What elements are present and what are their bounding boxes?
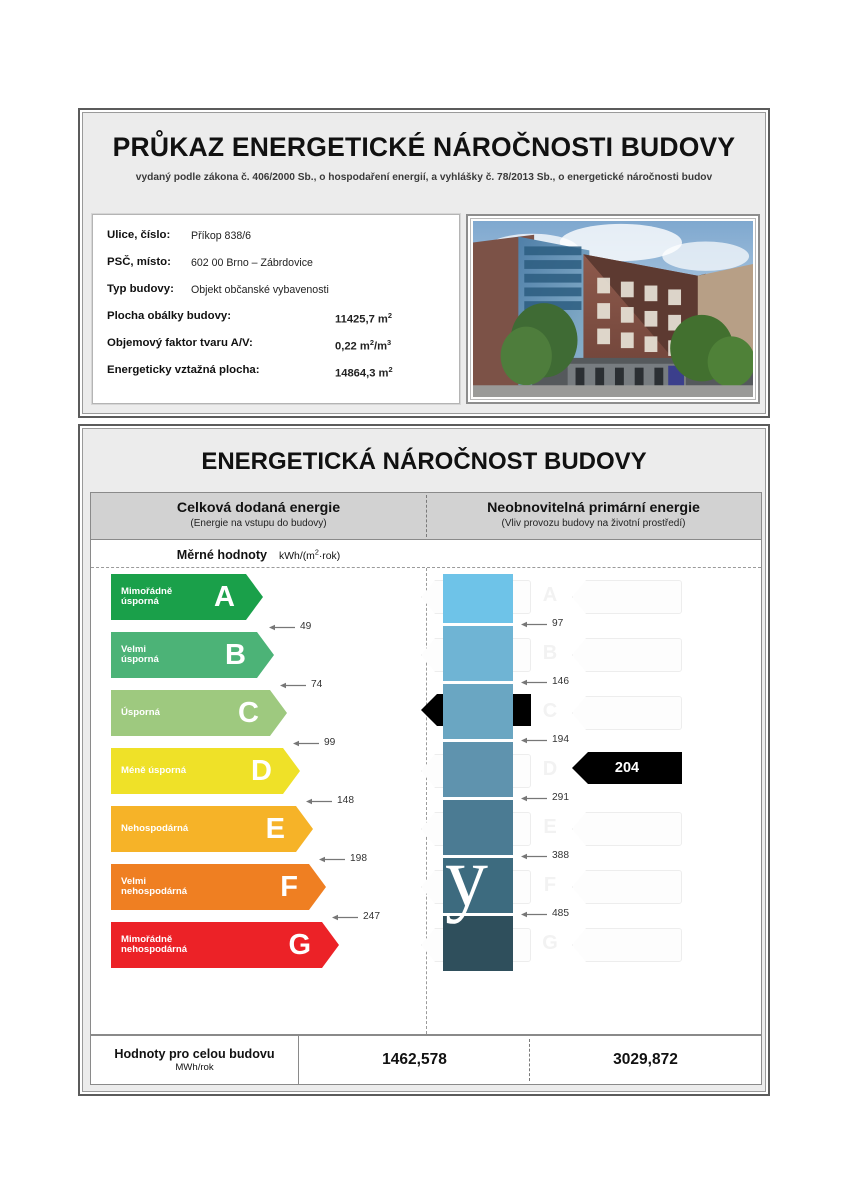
boundary-value: 247 bbox=[363, 911, 380, 922]
building-photo bbox=[473, 221, 753, 397]
class-boundary-c: 99 bbox=[293, 737, 335, 748]
class-name-label: Velmi nehospodárná bbox=[121, 877, 187, 898]
boundary-arrow-icon bbox=[521, 794, 547, 801]
primary-boundary-5: 388 bbox=[521, 850, 569, 861]
boundary-value: 49 bbox=[300, 621, 311, 632]
boundary-value: 485 bbox=[552, 908, 569, 919]
primary-boundary-6: 485 bbox=[521, 908, 569, 919]
class-letter: C bbox=[238, 699, 259, 728]
class-letter: E bbox=[266, 815, 285, 844]
totals-primary-value: 3029,872 bbox=[530, 1036, 761, 1084]
primary-heading: Neobnovitelná primární energie bbox=[426, 500, 761, 516]
identity-row: Typ budovy:Objekt občanské vybavenosti bbox=[107, 283, 457, 307]
primary-placeholder-6 bbox=[572, 870, 682, 904]
primary-energy-value: 204 bbox=[615, 760, 639, 776]
identity-value: 11425,7 m2 bbox=[335, 311, 392, 326]
energy-class-f: Velmi nehospodárnáF bbox=[111, 864, 326, 910]
primary-band-4 bbox=[443, 742, 513, 797]
boundary-value: 388 bbox=[552, 850, 569, 861]
delivered-class-letter-f: F bbox=[539, 874, 561, 897]
delivered-class-letter-c: C bbox=[539, 700, 561, 723]
identity-panel: PRŮKAZ ENERGETICKÉ NÁROČNOSTI BUDOVY vyd… bbox=[78, 108, 770, 418]
section-title: ENERGETICKÁ NÁROČNOST BUDOVY bbox=[80, 448, 768, 476]
totals-unit: MWh/rok bbox=[175, 1062, 213, 1073]
boundary-arrow-icon bbox=[280, 681, 306, 688]
boundary-arrow-icon bbox=[319, 855, 345, 862]
document-page: PRŮKAZ ENERGETICKÉ NÁROČNOSTI BUDOVY vyd… bbox=[0, 0, 847, 1200]
column-header-primary: Neobnovitelná primární energie (Vliv pro… bbox=[426, 493, 761, 539]
class-name-label: Méně úsporná bbox=[121, 766, 186, 776]
energy-class-g: Mimořádně nehospodárnáG bbox=[111, 922, 339, 968]
delivered-class-letter-d: D bbox=[539, 758, 561, 781]
energy-scale-area: Měrné hodnotykWh/(m2·rok) Mimořádně úspo… bbox=[90, 540, 762, 1035]
delivered-class-letter-a: A bbox=[539, 584, 561, 607]
primary-band-1 bbox=[443, 574, 513, 623]
totals-label-cell: Hodnoty pro celou budovu MWh/rok bbox=[91, 1036, 299, 1084]
class-letter: A bbox=[214, 583, 235, 612]
primary-placeholder-2 bbox=[572, 638, 682, 672]
identity-row: PSČ, místo:602 00 Brno – Zábrdovice bbox=[107, 256, 457, 280]
identity-row: Objemový faktor tvaru A/V:0,22 m2/m3 bbox=[107, 337, 457, 361]
class-name-label: Mimořádně úsporná bbox=[121, 587, 172, 608]
identity-label: Typ budovy: bbox=[107, 283, 174, 295]
energy-class-a: Mimořádně úspornáA bbox=[111, 574, 263, 620]
columns-header: Celková dodaná energie (Energie na vstup… bbox=[90, 492, 762, 540]
boundary-arrow-icon bbox=[521, 852, 547, 859]
identity-label: Energeticky vztažná plocha: bbox=[107, 364, 260, 376]
primary-band-5 bbox=[443, 800, 513, 855]
boundary-arrow-icon bbox=[521, 678, 547, 685]
delivered-subheading: (Energie na vstupu do budovy) bbox=[91, 518, 426, 529]
boundary-value: 194 bbox=[552, 734, 569, 745]
class-letter: B bbox=[225, 641, 246, 670]
totals-delivered-value: 1462,578 bbox=[299, 1036, 530, 1084]
primary-band-stack: y bbox=[443, 574, 513, 974]
identity-value: 602 00 Brno – Zábrdovice bbox=[191, 257, 313, 269]
primary-band-7 bbox=[443, 916, 513, 971]
primary-boundary-1: 97 bbox=[521, 618, 563, 629]
building-photo-frame bbox=[466, 214, 760, 404]
delivered-class-letter-e: E bbox=[539, 816, 561, 839]
identity-value: Příkop 838/6 bbox=[191, 230, 251, 242]
identity-row: Ulice, číslo:Příkop 838/6 bbox=[107, 229, 457, 253]
class-name-label: Mimořádně nehospodárná bbox=[121, 935, 187, 956]
boundary-value: 291 bbox=[552, 792, 569, 803]
primary-placeholder-1 bbox=[572, 580, 682, 614]
totals-row: Hodnoty pro celou budovu MWh/rok 1462,57… bbox=[90, 1035, 762, 1085]
class-boundary-f: 247 bbox=[332, 911, 380, 922]
class-boundary-e: 198 bbox=[319, 853, 367, 864]
delivered-heading: Celková dodaná energie bbox=[91, 500, 426, 516]
energy-performance-panel: ENERGETICKÁ NÁROČNOST BUDOVY Celková dod… bbox=[78, 424, 770, 1096]
identity-label: Objemový faktor tvaru A/V: bbox=[107, 337, 253, 349]
units-row: Měrné hodnotykWh/(m2·rok) bbox=[91, 540, 761, 568]
identity-label: Ulice, číslo: bbox=[107, 229, 170, 241]
identity-row: Plocha obálky budovy:11425,7 m2 bbox=[107, 310, 457, 334]
class-boundary-d: 148 bbox=[306, 795, 354, 806]
boundary-arrow-icon bbox=[521, 910, 547, 917]
class-letter: F bbox=[280, 873, 298, 902]
class-name-label: Nehospodárná bbox=[121, 824, 188, 834]
primary-band-2 bbox=[443, 626, 513, 681]
primary-band-6 bbox=[443, 858, 513, 913]
class-letter: D bbox=[251, 757, 272, 786]
primary-boundary-3: 194 bbox=[521, 734, 569, 745]
building-identity-box: Ulice, číslo:Příkop 838/6PSČ, místo:602 … bbox=[92, 214, 460, 404]
primary-placeholder-5 bbox=[572, 812, 682, 846]
identity-label: Plocha obálky budovy: bbox=[107, 310, 231, 322]
boundary-value: 97 bbox=[552, 618, 563, 629]
units-label: Měrné hodnoty bbox=[177, 548, 267, 562]
boundary-value: 74 bbox=[311, 679, 322, 690]
class-name-label: Úsporná bbox=[121, 708, 160, 718]
boundary-arrow-icon bbox=[332, 913, 358, 920]
boundary-arrow-icon bbox=[521, 620, 547, 627]
boundary-arrow-icon bbox=[306, 797, 332, 804]
class-letter: G bbox=[288, 931, 311, 960]
boundary-arrow-icon bbox=[521, 736, 547, 743]
primary-placeholder-7 bbox=[572, 928, 682, 962]
class-boundary-b: 74 bbox=[280, 679, 322, 690]
primary-subheading: (Vliv provozu budovy na životní prostřed… bbox=[426, 518, 761, 529]
boundary-value: 198 bbox=[350, 853, 367, 864]
identity-value: 14864,3 m2 bbox=[335, 365, 393, 380]
primary-boundary-2: 146 bbox=[521, 676, 569, 687]
boundary-value: 148 bbox=[337, 795, 354, 806]
page-subtitle: vydaný podle zákona č. 406/2000 Sb., o h… bbox=[80, 172, 768, 183]
primary-energy-value-badge: 204 bbox=[572, 752, 682, 784]
totals-label: Hodnoty pro celou budovu bbox=[114, 1047, 274, 1061]
identity-value: Objekt občanské vybavenosti bbox=[191, 284, 329, 296]
identity-label: PSČ, místo: bbox=[107, 256, 171, 268]
page-title: PRŮKAZ ENERGETICKÉ NÁROČNOSTI BUDOVY bbox=[80, 132, 768, 163]
class-boundary-a: 49 bbox=[269, 621, 311, 632]
primary-boundary-4: 291 bbox=[521, 792, 569, 803]
units-value: kWh/(m2·rok) bbox=[279, 551, 340, 562]
boundary-value: 146 bbox=[552, 676, 569, 687]
delivered-class-letter-b: B bbox=[539, 642, 561, 665]
boundary-value: 99 bbox=[324, 737, 335, 748]
column-header-delivered: Celková dodaná energie (Energie na vstup… bbox=[91, 493, 426, 539]
identity-row: Energeticky vztažná plocha:14864,3 m2 bbox=[107, 364, 457, 388]
primary-placeholder-3 bbox=[572, 696, 682, 730]
energy-class-d: Méně úspornáD bbox=[111, 748, 300, 794]
energy-class-c: ÚspornáC bbox=[111, 690, 287, 736]
energy-class-b: Velmi úspornáB bbox=[111, 632, 274, 678]
center-divider bbox=[426, 568, 427, 1034]
boundary-arrow-icon bbox=[293, 739, 319, 746]
class-name-label: Velmi úsporná bbox=[121, 645, 159, 666]
primary-band-3 bbox=[443, 684, 513, 739]
delivered-class-letter-g: G bbox=[539, 932, 561, 955]
boundary-arrow-icon bbox=[269, 623, 295, 630]
energy-class-e: NehospodárnáE bbox=[111, 806, 313, 852]
identity-value: 0,22 m2/m3 bbox=[335, 338, 391, 353]
